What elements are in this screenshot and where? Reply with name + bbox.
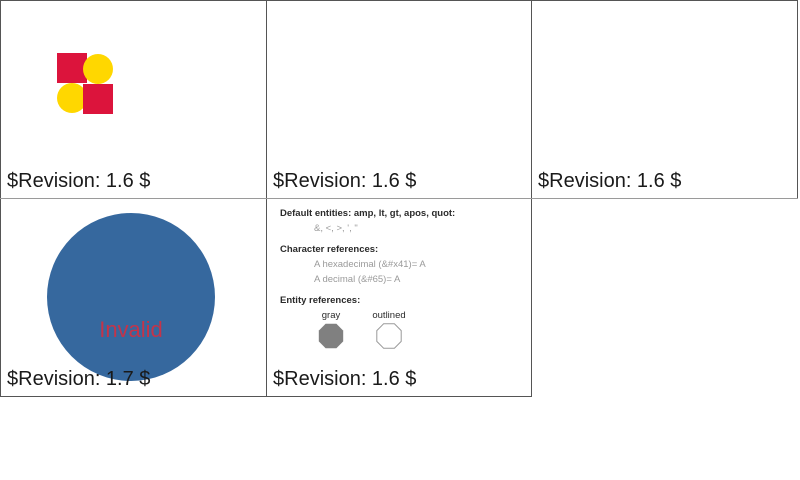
revision-label: $Revision: 1.6 $ (273, 368, 416, 390)
panel-logo-3: $Revision: 1.6 $ (531, 0, 798, 199)
entity-shape-outlined-caption: outlined (354, 309, 424, 322)
row-divider-rule (0, 198, 798, 199)
entity-reference-body: Default entities: amp, lt, gt, apos, quo… (280, 207, 525, 355)
red-square-icon (83, 84, 113, 114)
yellow-circle-icon (83, 54, 113, 84)
character-reference-decimal: A decimal (&#65)= A (314, 272, 525, 287)
panel-entity-references: Default entities: amp, lt, gt, apos, quo… (266, 198, 532, 397)
entity-shape-row: gray outlined (280, 309, 525, 355)
panel-logo-2: $Revision: 1.6 $ (266, 0, 532, 199)
character-references-heading: Character references: (280, 243, 525, 256)
entity-shape-outlined: outlined (354, 309, 424, 349)
revision-label: $Revision: 1.6 $ (7, 170, 150, 192)
revision-label: $Revision: 1.7 $ (7, 368, 150, 390)
revision-label: $Revision: 1.6 $ (273, 170, 416, 192)
default-entities-values: &, <, >, ', " (314, 221, 525, 236)
character-reference-hex: A hexadecimal (&#x41)= A (314, 257, 525, 272)
spacer (280, 236, 525, 243)
default-entities-heading: Default entities: amp, lt, gt, apos, quo… (280, 207, 525, 220)
invalid-shape-label: Invalid (47, 318, 215, 342)
spacer (280, 287, 525, 294)
screenshot-canvas: $Revision: 1.6 $ $Revision: 1.6 $ $Revis… (0, 0, 800, 480)
revision-label: $Revision: 1.6 $ (538, 170, 681, 192)
entity-references-heading: Entity references: (280, 294, 525, 307)
panel-logo-1: $Revision: 1.6 $ (0, 0, 267, 199)
outlined-octagon-icon (376, 323, 402, 349)
four-square-logo (57, 53, 115, 115)
gray-octagon-icon (318, 323, 344, 349)
blue-circle-shape (47, 213, 215, 381)
